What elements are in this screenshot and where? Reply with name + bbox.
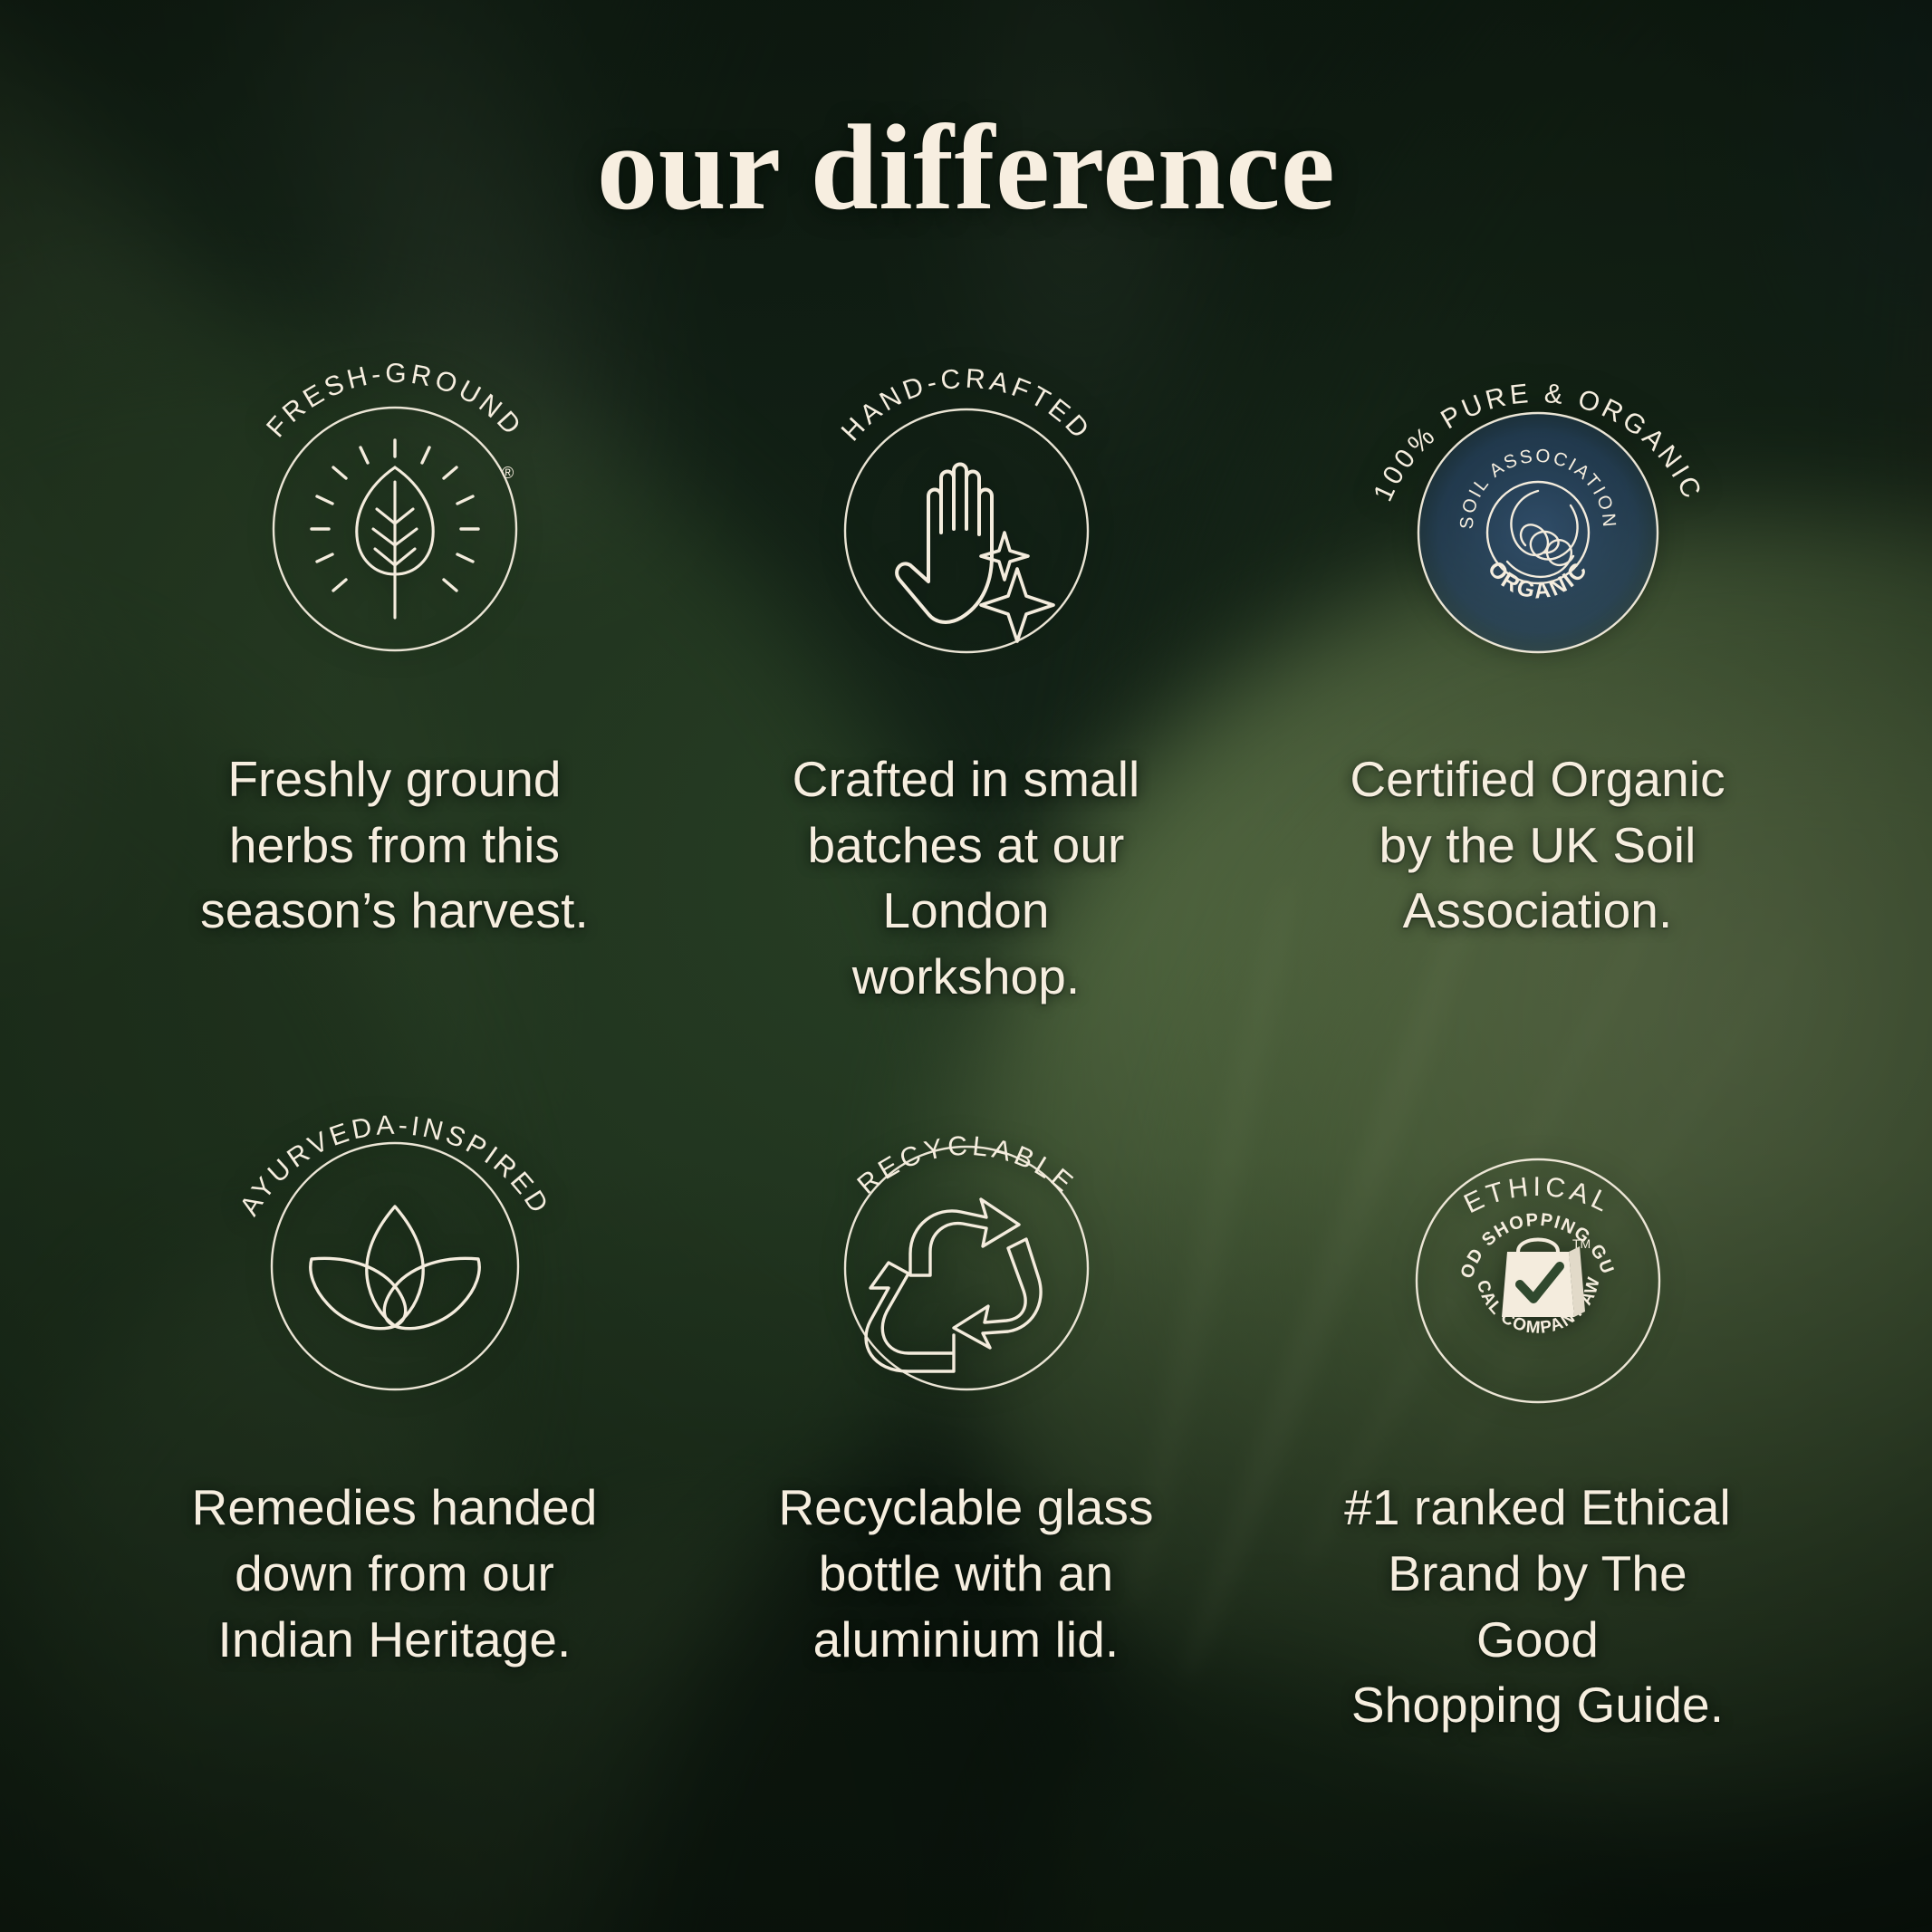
badge-arc-label: FRESH-GROUND [261, 359, 529, 444]
page-content: our difference FRESH-GROUND ® [0, 0, 1932, 1932]
blurb-line: season’s harvest. [200, 878, 589, 944]
leaf-sunburst-icon [312, 440, 478, 618]
feature-fresh-ground: FRESH-GROUND ® [109, 319, 680, 1009]
blurb-line: Freshly ground [200, 746, 589, 812]
recycling-arrows-icon [866, 1199, 1041, 1371]
feature-recyclable: RECYCLABLE Recyclable glass [680, 1056, 1252, 1737]
ethical-badge-svg: ETHICAL GOOD SHOPPING GUIDE ETHICAL COMP… [1348, 1056, 1728, 1437]
badge-pure-organic: 100% PURE & ORGANIC SOIL ASSOCIATION ORG… [1348, 319, 1728, 699]
blurb-line: Association. [1350, 878, 1725, 944]
feature-blurb: Certified Organic by the UK Soil Associa… [1350, 746, 1725, 944]
blurb-line: #1 ranked Ethical [1334, 1475, 1742, 1541]
badge-outline-circle [272, 1143, 518, 1389]
blurb-line: herbs from this [200, 812, 589, 879]
feature-blurb: Crafted in small batches at our London w… [763, 746, 1170, 1009]
blurb-line: Shopping Guide. [1334, 1672, 1742, 1738]
ayurveda-badge-svg: AYURVEDA-INSPIRED [205, 1056, 585, 1437]
blurb-line: Certified Organic [1350, 746, 1725, 812]
fresh-ground-badge-svg: FRESH-GROUND ® [205, 319, 585, 699]
badge-arc-label: AYURVEDA-INSPIRED [234, 1110, 555, 1221]
feature-grid: FRESH-GROUND ® [109, 319, 1823, 1738]
hand-sparkle-icon [897, 465, 1053, 642]
badge-arc-label: RECYCLABLE [851, 1131, 1081, 1200]
feature-blurb: Freshly ground herbs from this season’s … [200, 746, 589, 944]
feature-row-1: FRESH-GROUND ® [109, 319, 1823, 1009]
pure-organic-badge-svg: 100% PURE & ORGANIC SOIL ASSOCIATION ORG… [1348, 319, 1728, 699]
blurb-line: batches at our [763, 812, 1170, 879]
feature-ayurveda-inspired: AYURVEDA-INSPIRED Remedies handed down f… [109, 1056, 680, 1737]
page-title: our difference [0, 107, 1932, 229]
lotus-leaf-icon [310, 1206, 478, 1329]
feature-pure-organic: 100% PURE & ORGANIC SOIL ASSOCIATION ORG… [1252, 319, 1823, 1009]
blurb-line: London workshop. [763, 878, 1170, 1009]
shopping-bag-check-icon [1502, 1240, 1585, 1318]
badge-ayurveda-inspired: AYURVEDA-INSPIRED [205, 1056, 585, 1437]
registered-trademark-icon: ® [502, 464, 514, 482]
recyclable-badge-svg: RECYCLABLE [776, 1056, 1157, 1437]
blurb-line: Remedies handed [192, 1475, 598, 1541]
badge-recyclable: RECYCLABLE [776, 1056, 1157, 1437]
blurb-line: bottle with an [778, 1541, 1153, 1607]
feature-blurb: Remedies handed down from our Indian Her… [192, 1475, 598, 1672]
feature-ethical: ETHICAL GOOD SHOPPING GUIDE ETHICAL COMP… [1252, 1056, 1823, 1737]
badge-fresh-ground: FRESH-GROUND ® [205, 319, 585, 699]
hand-crafted-badge-svg: HAND-CRAFTED [776, 319, 1157, 699]
feature-hand-crafted: HAND-CRAFTED Crafted in small batches at… [680, 319, 1252, 1009]
badge-hand-crafted: HAND-CRAFTED [776, 319, 1157, 699]
blurb-line: aluminium lid. [778, 1607, 1153, 1673]
blurb-line: Indian Heritage. [192, 1607, 598, 1673]
feature-row-2: AYURVEDA-INSPIRED Remedies handed down f… [109, 1056, 1823, 1737]
blurb-line: Recyclable glass [778, 1475, 1153, 1541]
badge-ethical: ETHICAL GOOD SHOPPING GUIDE ETHICAL COMP… [1348, 1056, 1728, 1437]
blurb-line: Brand by The Good [1334, 1541, 1742, 1672]
feature-blurb: Recyclable glass bottle with an aluminiu… [778, 1475, 1153, 1672]
blurb-line: Crafted in small [763, 746, 1170, 812]
blurb-line: down from our [192, 1541, 598, 1607]
blurb-line: by the UK Soil [1350, 812, 1725, 879]
badge-arc-label: HAND-CRAFTED [835, 364, 1096, 447]
feature-blurb: #1 ranked Ethical Brand by The Good Shop… [1334, 1475, 1742, 1737]
